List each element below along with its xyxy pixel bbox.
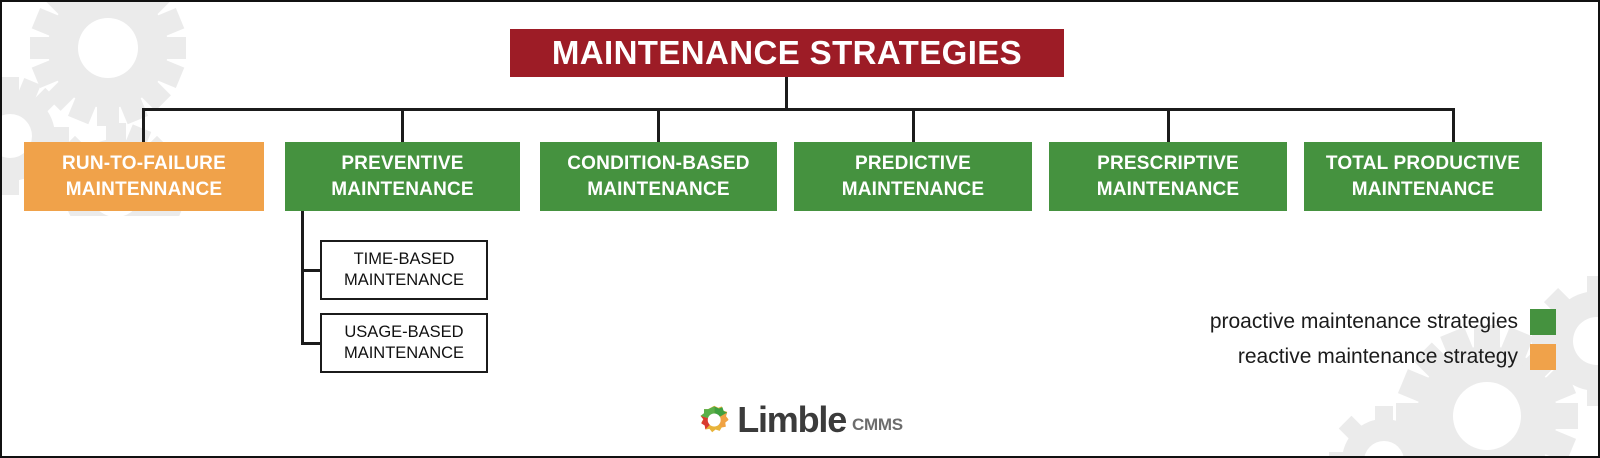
connector-drop-3 xyxy=(912,108,915,143)
legend-label: proactive maintenance strategies xyxy=(1210,310,1518,334)
logo-wordmark: Limble xyxy=(737,402,846,438)
connector-drop-5 xyxy=(1452,108,1455,143)
legend-label: reactive maintenance strategy xyxy=(1238,345,1518,369)
strategy-box-prescriptive-maintenance[interactable]: PRESCRIPTIVEMAINTENANCE xyxy=(1049,142,1287,211)
sub-strategy-box-label: USAGE-BASEDMAINTENANCE xyxy=(344,322,464,365)
connector-drop-0 xyxy=(142,108,145,143)
legend-item-proactive: proactive maintenance strategies xyxy=(1210,309,1556,335)
strategy-box-run-to-failure-maintenance[interactable]: RUN-TO-FAILUREMAINTENNANCE xyxy=(24,142,264,211)
strategy-box-label: PREVENTIVEMAINTENANCE xyxy=(325,151,480,202)
page-title: MAINTENANCE STRATEGIES xyxy=(552,34,1022,72)
strategy-box-total-productive-maintenance[interactable]: TOTAL PRODUCTIVEMAINTENANCE xyxy=(1304,142,1542,211)
connector-horizontal-bus xyxy=(142,108,1455,111)
strategy-box-label: TOTAL PRODUCTIVEMAINTENANCE xyxy=(1320,151,1526,202)
sub-strategy-box-time-based-maintenance[interactable]: TIME-BASEDMAINTENANCE xyxy=(320,240,488,300)
diagram-title-box: MAINTENANCE STRATEGIES xyxy=(510,29,1064,77)
diagram-canvas: MAINTENANCE STRATEGIES RUN-TO-FAILUREMAI… xyxy=(0,0,1600,458)
sub-strategy-box-label: TIME-BASEDMAINTENANCE xyxy=(344,249,464,292)
legend-item-reactive: reactive maintenance strategy xyxy=(1238,344,1556,370)
strategy-box-preventive-maintenance[interactable]: PREVENTIVEMAINTENANCE xyxy=(285,142,520,211)
strategy-box-label: PREDICTIVEMAINTENANCE xyxy=(836,151,991,202)
strategy-box-condition-based-maintenance[interactable]: CONDITION-BASEDMAINTENANCE xyxy=(540,142,777,211)
connector-drop-2 xyxy=(657,108,660,143)
gear-logo-icon xyxy=(697,403,731,437)
sub-strategy-box-usage-based-maintenance[interactable]: USAGE-BASEDMAINTENANCE xyxy=(320,313,488,373)
strategy-box-predictive-maintenance[interactable]: PREDICTIVEMAINTENANCE xyxy=(794,142,1032,211)
connector-drop-1 xyxy=(401,108,404,143)
strategy-box-label: PRESCRIPTIVEMAINTENANCE xyxy=(1091,151,1246,202)
logo-suffix: CMMS xyxy=(852,415,903,438)
connector-drop-4 xyxy=(1167,108,1170,143)
legend-swatch-reactive xyxy=(1530,344,1556,370)
strategy-box-label: CONDITION-BASEDMAINTENANCE xyxy=(561,151,755,202)
limble-cmms-logo: Limble CMMS xyxy=(697,402,903,438)
strategy-box-label: RUN-TO-FAILUREMAINTENNANCE xyxy=(56,151,232,202)
connector-title-stem xyxy=(785,77,788,110)
legend-swatch-proactive xyxy=(1530,309,1556,335)
legend: proactive maintenance strategies reactiv… xyxy=(1210,309,1556,370)
connector-sub-stem xyxy=(301,211,304,345)
